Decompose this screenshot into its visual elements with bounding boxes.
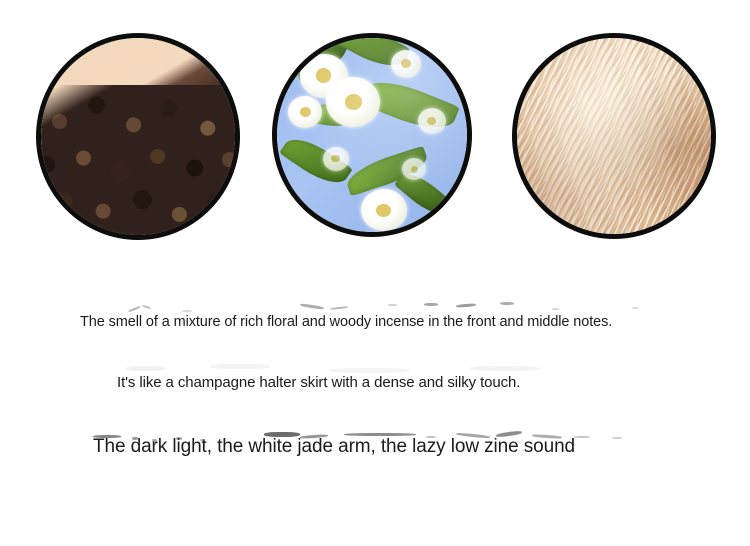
smudge-mark (424, 303, 438, 306)
smudge-mark (456, 303, 476, 308)
smudge-mark (182, 310, 192, 312)
smudge-mark (128, 306, 141, 313)
smudge-mark (552, 308, 559, 310)
smudge-mark (388, 304, 397, 306)
caption-line-3: The dark light, the white jade arm, the … (93, 436, 575, 458)
note-image-vetiver-fibers[interactable] (512, 33, 716, 239)
note-image-orange-blossom[interactable] (272, 33, 472, 237)
vetiver-fiber-illustration (517, 38, 711, 234)
smudge-mark (300, 303, 324, 310)
orange-blossom-illustration (277, 38, 467, 232)
smudge-mark (470, 366, 540, 371)
peppercorn-cluster (41, 85, 235, 235)
fiber-sheen (517, 38, 711, 234)
smudge-mark (500, 302, 514, 305)
smudge-mark (574, 436, 590, 438)
fragrance-notes-row (0, 33, 750, 243)
black-pepper-illustration (41, 38, 235, 235)
caption-line-1: The smell of a mixture of rich floral an… (80, 314, 612, 330)
smudge-mark (210, 364, 270, 369)
product-detail-panel: The smell of a mixture of rich floral an… (0, 0, 750, 546)
sky-haze (277, 38, 467, 232)
caption-line-2: It's like a champagne halter skirt with … (117, 374, 520, 391)
smudge-mark (330, 368, 410, 373)
smudge-mark (330, 306, 348, 310)
note-image-black-pepper[interactable] (36, 33, 240, 240)
smudge-mark (126, 366, 166, 371)
smudge-mark (632, 307, 639, 309)
smudge-mark (612, 437, 622, 439)
smudge-mark (142, 305, 151, 310)
